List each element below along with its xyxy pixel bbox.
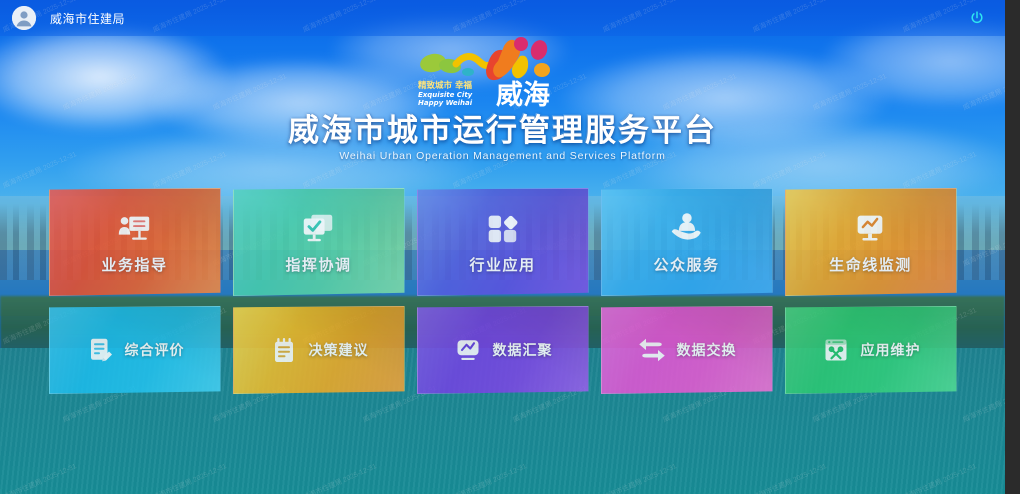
tile-comprehensive-evaluation[interactable]: 综合评价 [49,306,221,394]
presentation-board-icon [115,209,153,247]
svg-text:威海: 威海 [496,80,550,108]
user-avatar-icon[interactable] [12,6,36,30]
tile-label: 行业应用 [469,254,535,275]
platform-title: 威海市城市运行管理服务平台 [288,114,717,148]
right-scroll-strip[interactable] [1005,0,1020,494]
tile-row-2: 综合评价 [0,306,1005,394]
tile-label: 决策建议 [309,340,369,360]
svg-text:Happy Weihai: Happy Weihai [418,99,473,107]
tile-industry-application[interactable]: 行业应用 [417,188,589,296]
person-on-hand-icon [667,209,705,247]
weihai-city-logo: 精致城市 幸福 Exquisite City Happy Weihai 威海 [408,30,598,108]
tile-lifeline-monitoring[interactable]: 生命线监测 [785,188,957,296]
tile-data-exchange[interactable]: 数据交换 [601,306,773,394]
tile-data-aggregation[interactable]: 数据汇聚 [417,306,589,394]
notepad-icon [269,335,299,365]
platform-subtitle: Weihai Urban Operation Management and Se… [339,150,665,162]
brand-block: 精致城市 幸福 Exquisite City Happy Weihai 威海 威… [0,30,1005,162]
tile-decision-advice[interactable]: 决策建议 [233,306,405,394]
data-monitor-icon [453,335,483,365]
tile-label: 应用维护 [861,340,921,360]
tile-business-guidance[interactable]: 业务指导 [49,188,221,296]
app-root: 威海市住建局 2025-12-31威海市住建局 2025-12-31威海市住建局… [0,0,1020,494]
grid-apps-icon [483,209,521,247]
tile-application-maintenance[interactable]: 应用维护 [785,306,957,394]
top-header-bar: 威海市住建局 [0,0,1005,36]
document-pen-icon [85,335,115,365]
tile-label: 数据汇聚 [493,340,553,360]
tile-label: 数据交换 [677,340,737,360]
tile-label: 综合评价 [125,340,185,360]
tile-label: 业务指导 [101,254,167,275]
exchange-arrows-icon [637,335,667,365]
tile-label: 指挥协调 [285,254,351,275]
organization-name: 威海市住建局 [50,10,125,27]
power-logout-icon[interactable] [967,8,987,28]
tile-label: 生命线监测 [829,254,912,275]
tile-label: 公众服务 [653,254,719,275]
svg-text:精致城市 幸福: 精致城市 幸福 [418,80,472,91]
tile-row-1: 业务指导 指挥协调 [0,188,1005,296]
tile-command-coordination[interactable]: 指挥协调 [233,188,405,296]
monitor-chart-icon [851,209,889,247]
monitor-check-icon [299,209,337,247]
svg-text:Exquisite City: Exquisite City [418,91,473,99]
window-tools-icon [821,335,851,365]
tile-public-service[interactable]: 公众服务 [601,188,773,296]
module-tile-grid: 业务指导 指挥协调 [0,188,1005,394]
